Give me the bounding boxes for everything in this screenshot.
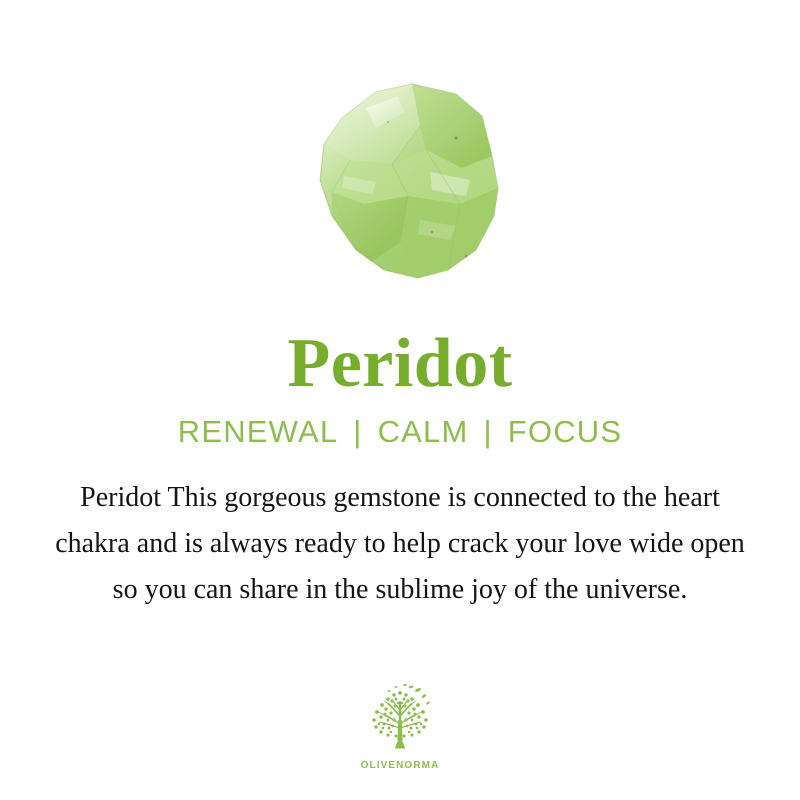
keyword-calm: CALM bbox=[378, 416, 469, 447]
keyword-list: RENEWAL | CALM | FOCUS bbox=[178, 403, 623, 459]
page-title: Peridot bbox=[287, 325, 512, 403]
description-paragraph: Peridot This gorgeous gemstone is connec… bbox=[15, 475, 785, 613]
brand-logo: OLIVENORMA bbox=[330, 682, 470, 771]
brand-wordmark: OLIVENORMA bbox=[361, 760, 440, 771]
keyword-separator: | bbox=[353, 416, 362, 447]
olive-tree-icon bbox=[358, 682, 442, 758]
keyword-separator: | bbox=[484, 416, 493, 447]
hero-image-area bbox=[0, 0, 800, 325]
description-line: chakra and is always ready to help crack… bbox=[15, 521, 785, 567]
keyword-focus: FOCUS bbox=[508, 416, 623, 447]
keyword-renewal: RENEWAL bbox=[178, 416, 339, 447]
peridot-crystal-icon bbox=[280, 64, 520, 304]
product-info-card: Peridot RENEWAL | CALM | FOCUS Peridot T… bbox=[0, 0, 800, 800]
description-line: so you can share in the sublime joy of t… bbox=[15, 567, 785, 613]
peridot-gemstone-image bbox=[280, 64, 520, 304]
description-line: Peridot This gorgeous gemstone is connec… bbox=[15, 475, 785, 521]
